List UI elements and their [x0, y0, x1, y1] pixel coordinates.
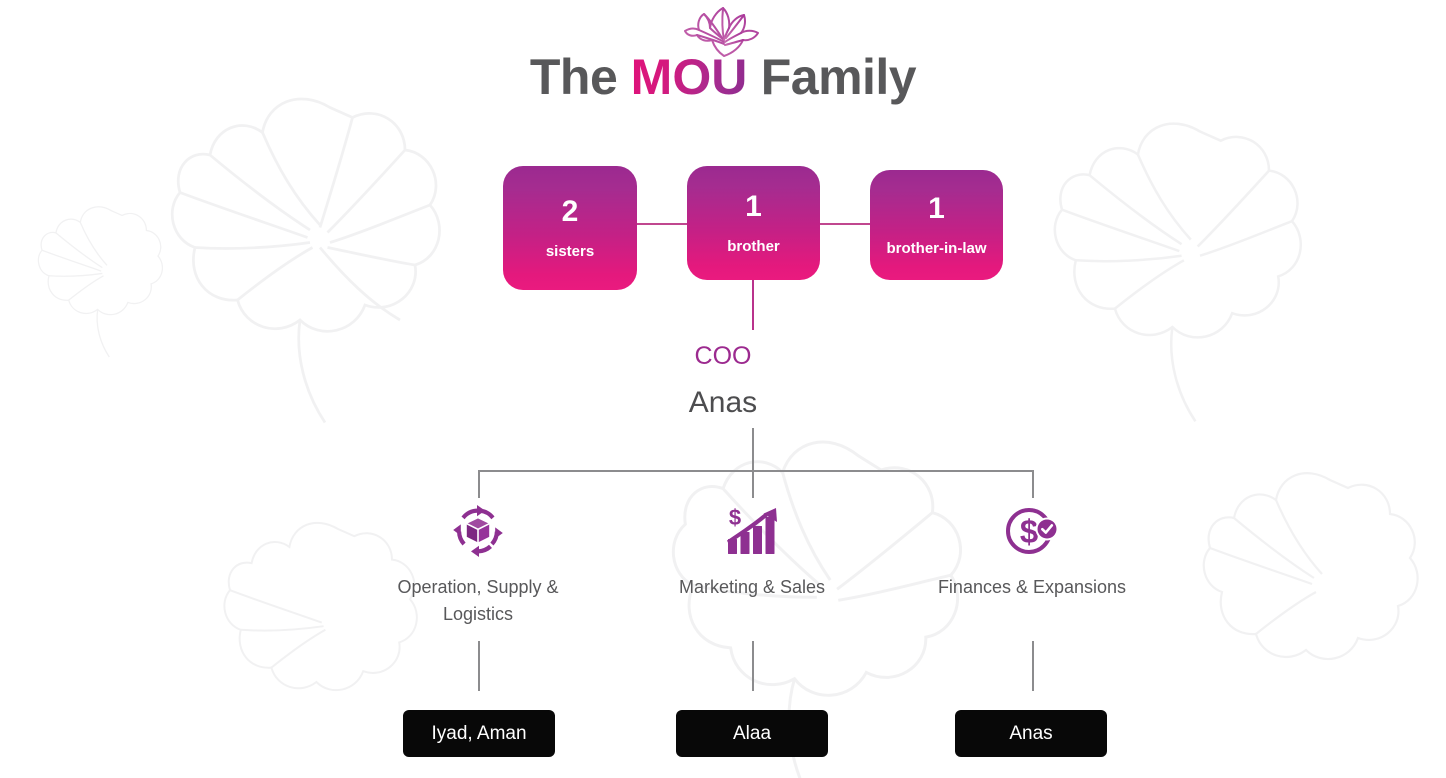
connector-dept3-to-person [1032, 641, 1034, 691]
connector-dept1-to-person [478, 641, 480, 691]
connector-dept2-to-person [752, 641, 754, 691]
supply-chain-box-icon [363, 500, 593, 562]
family-card-count: 1 [745, 192, 762, 222]
svg-text:$: $ [1020, 513, 1038, 550]
family-card-brother[interactable]: 1 brother [687, 166, 820, 280]
title-prefix: The [530, 49, 631, 105]
growth-chart-dollar-icon: $ [637, 500, 867, 562]
department-finances-expansions[interactable]: $ Finances & Expansions [917, 500, 1147, 601]
role-title: COO [0, 342, 1446, 371]
family-card-count: 2 [562, 197, 579, 227]
connector-bus-to-dept-1 [478, 470, 480, 498]
svg-text:$: $ [729, 505, 741, 530]
page-header: The MOU Family [0, 0, 1446, 125]
title-brand: MOU [631, 49, 748, 105]
person-chip-operation[interactable]: Iyad, Aman [403, 710, 555, 757]
connector-department-bus [478, 470, 1033, 472]
family-card-label: brother [727, 239, 780, 254]
department-label: Finances & Expansions [917, 574, 1147, 601]
page-title: The MOU Family [0, 48, 1446, 106]
person-name: Anas [1009, 723, 1052, 745]
family-card-label: sisters [546, 244, 594, 259]
person-chip-finances[interactable]: Anas [955, 710, 1107, 757]
person-name: Iyad, Aman [431, 723, 526, 745]
title-suffix: Family [747, 49, 916, 105]
connector-coo-trunk [752, 428, 754, 471]
department-marketing-sales[interactable]: $ Marketing & Sales [637, 500, 867, 601]
connector-sisters-brother [637, 223, 687, 225]
family-card-sisters[interactable]: 2 sisters [503, 166, 637, 290]
connector-brother-brotherinlaw [820, 223, 870, 225]
dollar-coin-check-icon: $ [917, 500, 1147, 562]
org-chart-page: The MOU Family 2 sisters 1 brother 1 bro… [0, 0, 1446, 778]
department-operation-supply-logistics[interactable]: Operation, Supply & Logistics [363, 500, 593, 628]
family-card-count: 1 [928, 194, 945, 224]
family-card-brother-in-law[interactable]: 1 brother-in-law [870, 170, 1003, 280]
connector-bus-to-dept-3 [1032, 470, 1034, 498]
role-person-name: Anas [0, 386, 1446, 420]
connector-bus-to-dept-2 [752, 470, 754, 498]
person-name: Alaa [733, 723, 771, 745]
connector-brother-to-coo [752, 280, 754, 330]
family-card-label: brother-in-law [887, 241, 987, 256]
person-chip-marketing[interactable]: Alaa [676, 710, 828, 757]
department-label: Operation, Supply & Logistics [363, 574, 593, 628]
department-label: Marketing & Sales [637, 574, 867, 601]
